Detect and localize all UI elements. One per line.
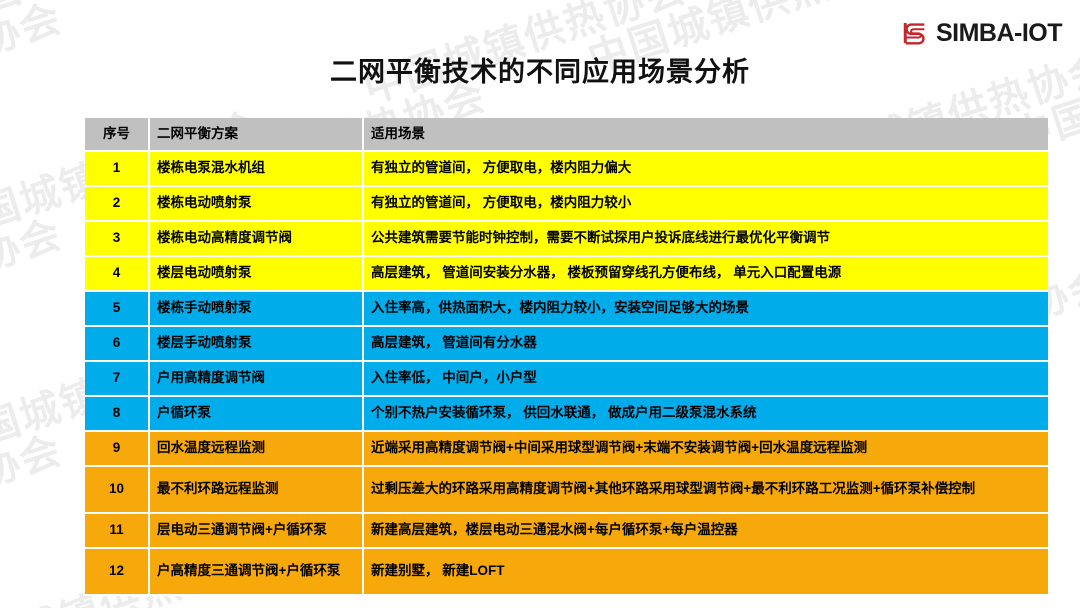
table-row: 12户高精度三通调节阀+户循环泵新建别墅， 新建LOFT	[85, 549, 1048, 596]
cell-scenario: 公共建筑需要节能时钟控制，需要不断试探用户投诉底线进行最优化平衡调节	[364, 222, 1048, 257]
table-row: 7户用高精度调节阀入住率低， 中间户，小户型	[85, 362, 1048, 397]
cell-scenario: 有独立的管道间， 方便取电，楼内阻力偏大	[364, 152, 1048, 187]
table-row: 10最不利环路远程监测过剩压差大的环路采用高精度调节阀+其他环路采用球型调节阀+…	[85, 467, 1048, 514]
cell-plan: 楼层手动喷射泵	[150, 327, 364, 362]
table-row: 1楼栋电泵混水机组有独立的管道间， 方便取电，楼内阻力偏大	[85, 152, 1048, 187]
cell-scenario: 新建高层建筑，楼层电动三通混水阀+每户循环泵+每户温控器	[364, 514, 1048, 549]
cell-plan: 户高精度三通调节阀+户循环泵	[150, 549, 364, 596]
cell-no: 9	[85, 432, 150, 467]
cell-plan: 户用高精度调节阀	[150, 362, 364, 397]
table-body: 1楼栋电泵混水机组有独立的管道间， 方便取电，楼内阻力偏大2楼栋电动喷射泵有独立…	[85, 152, 1048, 596]
cell-no: 5	[85, 292, 150, 327]
table-row: 2楼栋电动喷射泵有独立的管道间， 方便取电，楼内阻力较小	[85, 187, 1048, 222]
cell-plan: 层电动三通调节阀+户循环泵	[150, 514, 364, 549]
cell-no: 1	[85, 152, 150, 187]
cell-no: 3	[85, 222, 150, 257]
cell-plan: 楼栋电动喷射泵	[150, 187, 364, 222]
table-row: 5楼栋手动喷射泵入住率高，供热面积大，楼内阻力较小，安装空间足够大的场景	[85, 292, 1048, 327]
cell-no: 10	[85, 467, 150, 514]
cell-plan: 楼栋电泵混水机组	[150, 152, 364, 187]
simba-iot-logo: SIMBA-IOT	[900, 18, 1062, 48]
cell-scenario: 过剩压差大的环路采用高精度调节阀+其他环路采用球型调节阀+最不利环路工况监测+循…	[364, 467, 1048, 514]
table-row: 6楼层手动喷射泵高层建筑， 管道间有分水器	[85, 327, 1048, 362]
cell-scenario: 入住率高，供热面积大，楼内阻力较小，安装空间足够大的场景	[364, 292, 1048, 327]
cell-no: 4	[85, 257, 150, 292]
cell-no: 6	[85, 327, 150, 362]
table-row: 4楼层电动喷射泵高层建筑， 管道间安装分水器， 楼板预留穿线孔方便布线， 单元入…	[85, 257, 1048, 292]
simba-spiral-icon	[900, 18, 930, 48]
page-title: 二网平衡技术的不同应用场景分析	[0, 50, 1080, 89]
column-header-plan: 二网平衡方案	[150, 118, 364, 152]
cell-scenario: 近端采用高精度调节阀+中间采用球型调节阀+末端不安装调节阀+回水温度远程监测	[364, 432, 1048, 467]
scenario-table: 序号 二网平衡方案 适用场景 1楼栋电泵混水机组有独立的管道间， 方便取电，楼内…	[85, 118, 1048, 596]
column-header-scenario: 适用场景	[364, 118, 1048, 152]
cell-scenario: 新建别墅， 新建LOFT	[364, 549, 1048, 596]
cell-plan: 楼栋手动喷射泵	[150, 292, 364, 327]
cell-no: 2	[85, 187, 150, 222]
cell-scenario: 入住率低， 中间户，小户型	[364, 362, 1048, 397]
cell-plan: 户循环泵	[150, 397, 364, 432]
cell-plan: 回水温度远程监测	[150, 432, 364, 467]
logo-wordmark: SIMBA-IOT	[936, 19, 1062, 48]
table-header: 序号 二网平衡方案 适用场景	[85, 118, 1048, 152]
table-header-row: 序号 二网平衡方案 适用场景	[85, 118, 1048, 152]
cell-no: 8	[85, 397, 150, 432]
column-header-no: 序号	[85, 118, 150, 152]
table-row: 11层电动三通调节阀+户循环泵新建高层建筑，楼层电动三通混水阀+每户循环泵+每户…	[85, 514, 1048, 549]
cell-scenario: 个别不热户安装循环泵， 供回水联通， 做成户用二级泵混水系统	[364, 397, 1048, 432]
cell-no: 11	[85, 514, 150, 549]
cell-scenario: 高层建筑， 管道间安装分水器， 楼板预留穿线孔方便布线， 单元入口配置电源	[364, 257, 1048, 292]
table-row: 9回水温度远程监测近端采用高精度调节阀+中间采用球型调节阀+末端不安装调节阀+回…	[85, 432, 1048, 467]
cell-no: 12	[85, 549, 150, 596]
cell-plan: 楼层电动喷射泵	[150, 257, 364, 292]
table-row: 3楼栋电动高精度调节阀公共建筑需要节能时钟控制，需要不断试探用户投诉底线进行最优…	[85, 222, 1048, 257]
cell-plan: 最不利环路远程监测	[150, 467, 364, 514]
cell-scenario: 有独立的管道间， 方便取电，楼内阻力较小	[364, 187, 1048, 222]
cell-no: 7	[85, 362, 150, 397]
table-row: 8户循环泵个别不热户安装循环泵， 供回水联通， 做成户用二级泵混水系统	[85, 397, 1048, 432]
cell-scenario: 高层建筑， 管道间有分水器	[364, 327, 1048, 362]
cell-plan: 楼栋电动高精度调节阀	[150, 222, 364, 257]
